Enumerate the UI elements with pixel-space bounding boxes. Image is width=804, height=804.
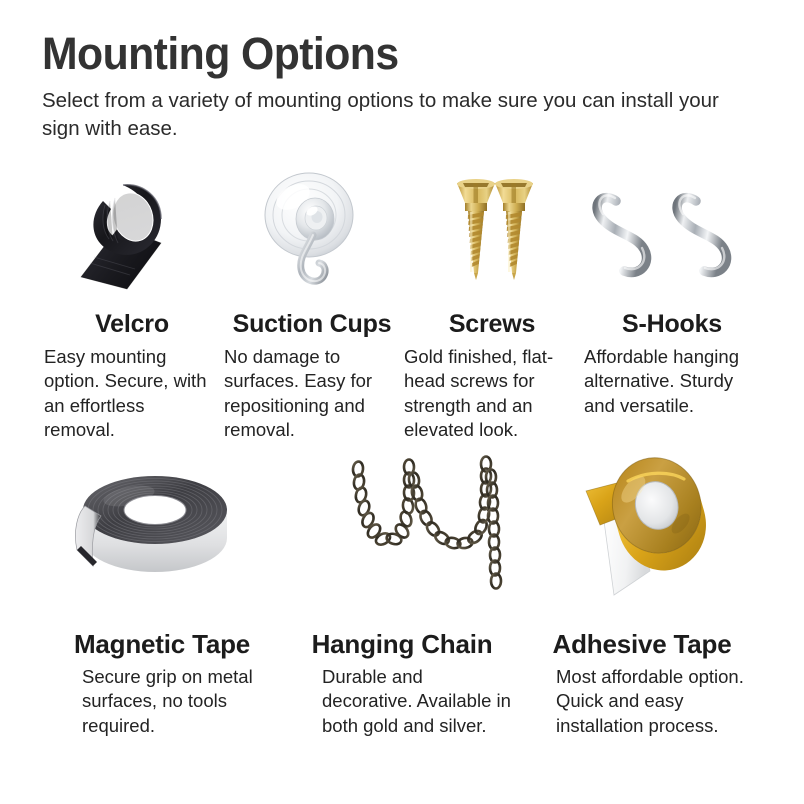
s-hooks-art bbox=[582, 165, 762, 305]
option-title: Screws bbox=[402, 311, 582, 339]
option-title: S-Hooks bbox=[582, 311, 762, 339]
option-description: Gold finished, flat-head screws for stre… bbox=[402, 345, 582, 443]
option-title: Hanging Chain bbox=[282, 630, 522, 659]
suction-cup-art bbox=[222, 165, 402, 305]
hanging-chain-icon bbox=[302, 455, 502, 620]
adhesive-tape-roll-icon bbox=[542, 455, 742, 620]
option-description: Durable and decorative. Available in bot… bbox=[282, 665, 522, 739]
option-card-adhesive-tape[interactable]: Adhesive Tape Most affordable option. Qu… bbox=[522, 455, 762, 738]
option-description: Most affordable option. Quick and easy i… bbox=[522, 665, 762, 739]
option-card-s-hooks[interactable]: S-Hooks Affordable hanging alternative. … bbox=[582, 165, 762, 443]
option-card-screws[interactable]: Screws Gold finished, flat-head screws f… bbox=[402, 165, 582, 443]
screws-art bbox=[402, 165, 582, 305]
option-title: Magnetic Tape bbox=[42, 630, 282, 659]
option-description: Easy mounting option. Secure, with an ef… bbox=[42, 345, 222, 443]
magnetic-tape-art bbox=[42, 455, 282, 620]
adhesive-tape-art bbox=[522, 455, 762, 620]
suction-cup-hook-icon bbox=[237, 165, 387, 305]
option-title: Suction Cups bbox=[222, 311, 402, 339]
hanging-chain-art bbox=[282, 455, 522, 620]
header: Mounting Options Select from a variety o… bbox=[42, 30, 754, 143]
option-description: No damage to surfaces. Easy for repositi… bbox=[222, 345, 402, 443]
option-description: Secure grip on metal surfaces, no tools … bbox=[42, 665, 282, 739]
option-title: Adhesive Tape bbox=[522, 630, 762, 659]
mounting-options-page: Mounting Options Select from a variety o… bbox=[0, 0, 804, 804]
options-row-1: Velcro Easy mounting option. Secure, wit… bbox=[42, 165, 762, 443]
option-card-hanging-chain[interactable]: Hanging Chain Durable and decorative. Av… bbox=[282, 455, 522, 738]
gold-screws-icon bbox=[417, 165, 567, 305]
velcro-art bbox=[42, 165, 222, 305]
option-card-velcro[interactable]: Velcro Easy mounting option. Secure, wit… bbox=[42, 165, 222, 443]
page-title: Mounting Options bbox=[42, 30, 718, 79]
option-card-magnetic-tape[interactable]: Magnetic Tape Secure grip on metal surfa… bbox=[42, 455, 282, 738]
page-subtitle: Select from a variety of mounting option… bbox=[42, 87, 722, 144]
magnetic-tape-roll-icon bbox=[57, 458, 267, 618]
s-hooks-icon bbox=[592, 165, 752, 305]
option-title: Velcro bbox=[42, 311, 222, 339]
options-row-2: Magnetic Tape Secure grip on metal surfa… bbox=[42, 455, 762, 738]
velcro-strap-icon bbox=[57, 165, 207, 305]
option-description: Affordable hanging alternative. Sturdy a… bbox=[582, 345, 762, 419]
option-card-suction-cups[interactable]: Suction Cups No damage to surfaces. Easy… bbox=[222, 165, 402, 443]
